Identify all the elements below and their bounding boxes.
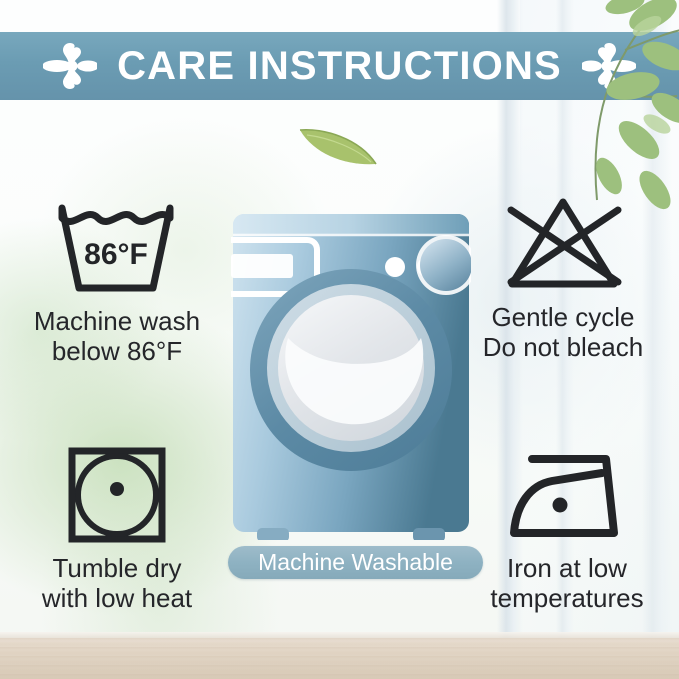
care-symbol-iron: Iron at low temperatures xyxy=(462,443,672,613)
wooden-table-surface xyxy=(0,638,679,679)
iron-icon xyxy=(462,443,672,547)
header-banner: CARE INSTRUCTIONS xyxy=(0,32,679,100)
machine-washable-badge: Machine Washable xyxy=(228,546,483,579)
wash-temperature-value: 86°F xyxy=(84,238,148,271)
care-symbol-do-not-bleach: Gentle cycle Do not bleach xyxy=(458,192,668,362)
care-instructions-infographic: CARE INSTRUCTIONS xyxy=(0,0,679,679)
tumble-dry-square-circle-icon xyxy=(12,443,222,547)
care-label-tumble-dry: Tumble dry with low heat xyxy=(12,553,222,613)
care-label-do-not-bleach: Gentle cycle Do not bleach xyxy=(458,302,668,362)
care-symbol-tumble-dry: Tumble dry with low heat xyxy=(12,443,222,613)
badge-label: Machine Washable xyxy=(258,551,453,574)
fleur-de-lis-icon xyxy=(43,43,97,89)
floating-leaf-icon xyxy=(297,122,379,168)
care-symbol-machine-wash: 86°F Machine wash below 86°F xyxy=(12,196,222,366)
wash-tub-icon: 86°F xyxy=(12,196,222,300)
washing-machine-illustration xyxy=(231,210,471,540)
care-label-machine-wash: Machine wash below 86°F xyxy=(12,306,222,366)
fleur-de-lis-icon xyxy=(582,43,636,89)
page-title: CARE INSTRUCTIONS xyxy=(117,46,562,86)
care-label-iron: Iron at low temperatures xyxy=(462,553,672,613)
triangle-crossed-out-icon xyxy=(458,192,668,296)
